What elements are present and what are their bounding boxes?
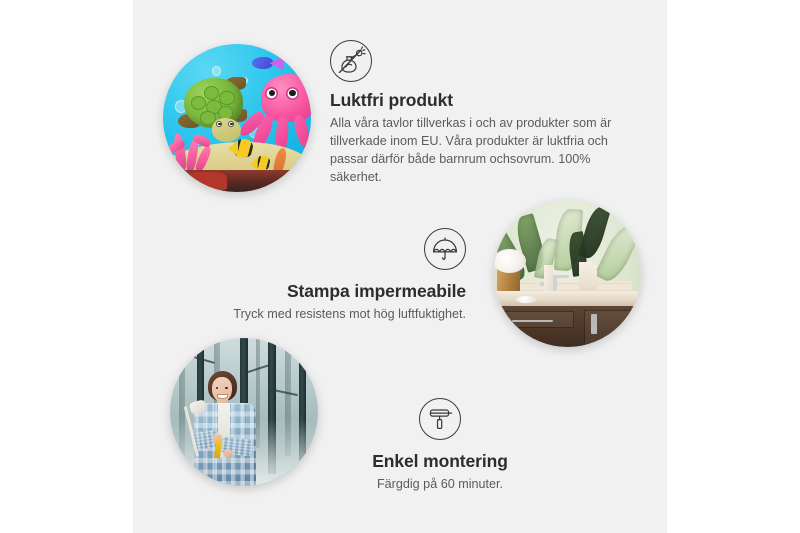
faucet-spout (553, 275, 569, 279)
woman-painter (189, 371, 269, 486)
feature-title: Luktfri produkt (330, 90, 640, 111)
blue-fish (252, 57, 273, 69)
feature-description: Tryck med resistens mot hög luftfuktighe… (190, 306, 466, 324)
feature-description: Alla våra tavlor tillverkas i och av pro… (330, 115, 640, 187)
feature-odourless: Luktfri produkt Alla våra tavlor tillver… (330, 40, 640, 187)
bathroom-leaf-wallpaper-thumbnail (494, 200, 641, 347)
product-feature-graphic: Luktfri produkt Alla våra tavlor tillver… (0, 0, 800, 533)
feature-description: Färgdig på 60 minuter. (330, 476, 550, 494)
woman-painter-forest-thumbnail (170, 338, 318, 486)
soap-dish (516, 296, 537, 303)
foreground-rock (163, 170, 311, 192)
feature-assembly: Enkel montering Färgdig på 60 minuter. (300, 398, 550, 494)
underwater-kids-mural-thumbnail (163, 44, 311, 192)
cabinet-handle (591, 314, 597, 334)
feature-title: Enkel montering (330, 451, 550, 472)
drawer-handle (512, 320, 553, 322)
bubble-icon (212, 66, 221, 75)
face (212, 377, 232, 401)
feature-title: Stampa impermeabile (190, 281, 466, 302)
no-fragrance-spray-bottle-icon (330, 40, 372, 82)
paint-roller-icon (419, 398, 461, 440)
rolled-towel (591, 265, 597, 294)
wood-vanity (494, 306, 641, 347)
soap-dispenser (544, 265, 553, 291)
umbrella-icon (424, 228, 466, 270)
feature-waterproof: Stampa impermeabile Tryck med resistens … (190, 228, 466, 324)
